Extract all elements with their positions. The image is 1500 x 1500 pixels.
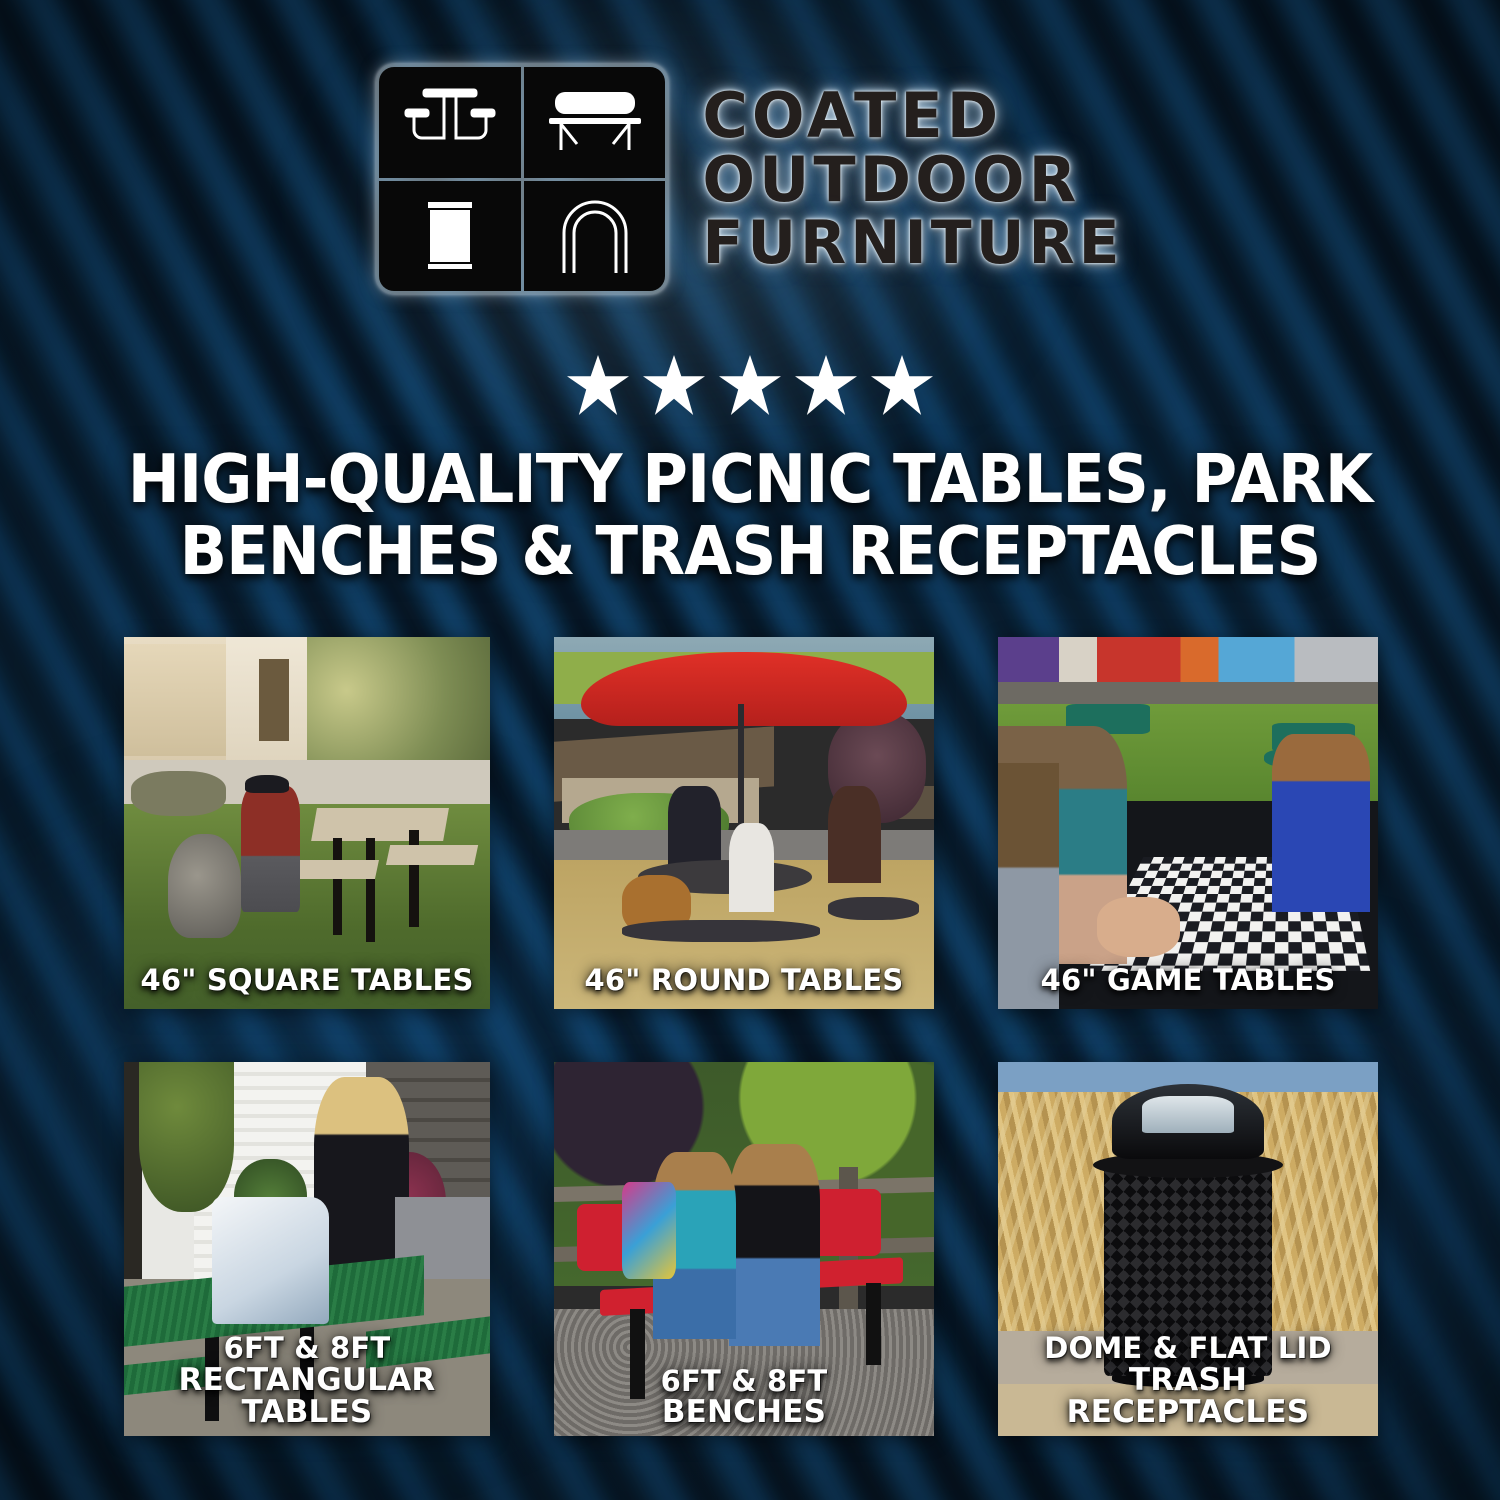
- product-photo-square-tables: [124, 637, 490, 1009]
- park-bench-icon: [524, 67, 666, 178]
- caption-line-1: DOME & FLAT LID: [1044, 1331, 1332, 1365]
- caption-line-2: TRASH RECEPTACLES: [1004, 1364, 1372, 1428]
- headline-line-2: BENCHES & TRASH RECEPTACLES: [108, 515, 1391, 587]
- trash-receptacle-icon: [379, 181, 521, 292]
- star-icon: [567, 355, 629, 415]
- caption-line-1: 46" GAME TABLES: [1041, 963, 1336, 997]
- wordmark-line-1: COATED: [702, 85, 1123, 147]
- page-headline: HIGH-QUALITY PICNIC TABLES, PARK BENCHES…: [108, 443, 1391, 588]
- headline-line-1: HIGH-QUALITY PICNIC TABLES, PARK: [128, 440, 1372, 518]
- picnic-table-icon: [379, 67, 521, 178]
- product-caption: 46" GAME TABLES: [1004, 965, 1372, 995]
- product-tile-game-tables[interactable]: 46" GAME TABLES: [998, 637, 1378, 1009]
- bike-rack-icon: [524, 181, 666, 292]
- wordmark-line-2: OUTDOOR: [702, 149, 1123, 211]
- caption-line-1: 46" ROUND TABLES: [585, 963, 904, 997]
- product-photo-round-tables: [554, 637, 934, 1009]
- product-photo-game-tables: [998, 637, 1378, 1009]
- wordmark-line-3: FURNITURE: [702, 213, 1123, 273]
- brand-header: COATED OUTDOOR FURNITURE: [0, 64, 1500, 294]
- product-caption: 46" ROUND TABLES: [560, 965, 928, 995]
- caption-line-1: 46" SQUARE TABLES: [140, 963, 473, 997]
- star-icon: [643, 355, 705, 415]
- product-tile-round-tables[interactable]: 46" ROUND TABLES: [554, 637, 934, 1009]
- caption-line-1: 6FT & 8FT: [661, 1364, 828, 1398]
- product-tile-rectangular-tables[interactable]: 6FT & 8FT RECTANGULAR TABLES: [124, 1062, 490, 1436]
- product-tile-square-tables[interactable]: 46" SQUARE TABLES: [124, 637, 490, 1009]
- product-tile-benches[interactable]: 6FT & 8FT BENCHES: [554, 1062, 934, 1436]
- star-icon: [795, 355, 857, 415]
- star-icon: [719, 355, 781, 415]
- product-caption: 6FT & 8FT BENCHES: [560, 1366, 928, 1428]
- brand-wordmark: COATED OUTDOOR FURNITURE: [702, 85, 1123, 273]
- star-icon: [871, 355, 933, 415]
- caption-line-2: RECTANGULAR TABLES: [130, 1364, 484, 1428]
- star-rating: [0, 355, 1500, 415]
- product-caption: 6FT & 8FT RECTANGULAR TABLES: [130, 1333, 484, 1428]
- product-caption: DOME & FLAT LID TRASH RECEPTACLES: [1004, 1333, 1372, 1428]
- product-caption: 46" SQUARE TABLES: [130, 965, 484, 995]
- product-tile-trash-receptacles[interactable]: DOME & FLAT LID TRASH RECEPTACLES: [998, 1062, 1378, 1436]
- product-grid: 46" SQUARE TABLES: [124, 637, 1382, 1436]
- caption-line-1: 6FT & 8FT: [224, 1331, 391, 1365]
- caption-line-2: BENCHES: [560, 1396, 928, 1428]
- brand-logo-mark: [376, 64, 668, 294]
